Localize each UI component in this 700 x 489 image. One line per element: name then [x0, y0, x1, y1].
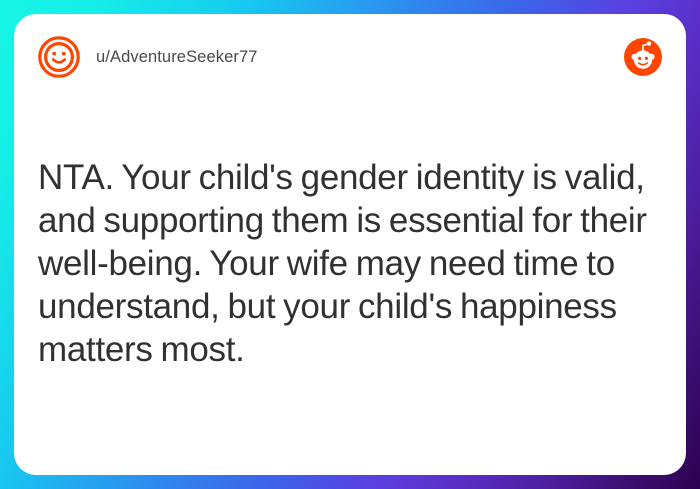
post-comment-text: NTA. Your child's gender identity is val… — [38, 156, 662, 371]
reddit-post-card: u/AdventureSeeker77 NTA. Your child's ge… — [14, 14, 686, 475]
post-author-username[interactable]: u/AdventureSeeker77 — [96, 48, 258, 67]
screenshot-root: u/AdventureSeeker77 NTA. Your child's ge… — [0, 0, 700, 489]
reddit-snoo-logo-icon[interactable] — [624, 38, 662, 76]
smiley-face-avatar-icon[interactable] — [38, 36, 80, 78]
post-body: NTA. Your child's gender identity is val… — [38, 156, 662, 371]
post-header: u/AdventureSeeker77 — [14, 14, 686, 100]
